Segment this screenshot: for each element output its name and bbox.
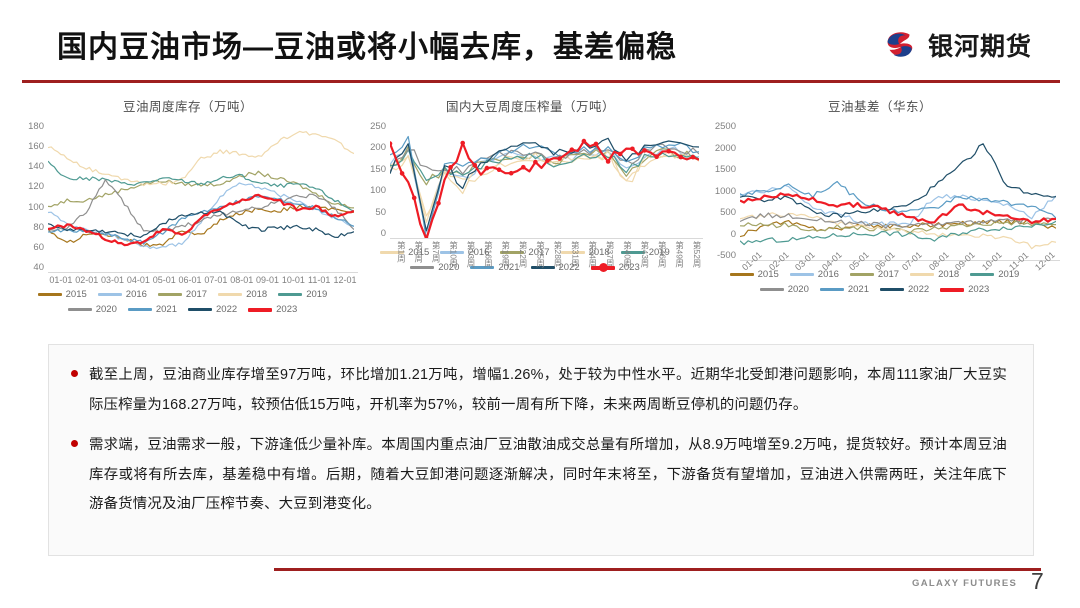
chart-title: 国内大豆周度压榨量（万吨） xyxy=(358,92,703,115)
legend-item-2018[interactable]: 2018 xyxy=(218,289,278,300)
x-tick-label: 第22周 xyxy=(512,241,529,285)
commentary-box: 截至上周，豆油商业库存增至97万吨，环比增加1.21万吨，增幅1.26%，处于较… xyxy=(48,344,1034,556)
x-tick-label: 10-01 xyxy=(280,275,306,285)
chart-lines xyxy=(390,121,699,239)
legend-item-2016[interactable]: 2016 xyxy=(98,289,158,300)
x-tick-label: 01-01 xyxy=(48,275,74,285)
y-axis: 25002000150010005000-500 xyxy=(700,121,736,261)
x-tick-label: 第40周 xyxy=(616,241,633,285)
x-tick-label: 第31周 xyxy=(564,241,581,285)
chart-soybean-oil-inventory: 豆油周度库存（万吨） 180160140120100806040 01-0102… xyxy=(18,92,358,340)
y-tick-label: 500 xyxy=(720,207,736,218)
series-marker-2023 xyxy=(691,155,696,160)
series-marker-2023 xyxy=(630,147,635,152)
galaxy-swirl-icon xyxy=(881,26,919,64)
plot-area xyxy=(390,121,703,239)
series-marker-2023 xyxy=(473,163,478,168)
x-axis-line xyxy=(390,238,703,239)
legend-swatch-icon xyxy=(218,293,242,296)
series-marker-2023 xyxy=(594,142,599,147)
legend-item-2020[interactable]: 2020 xyxy=(68,304,128,315)
x-tick-label: 第28周 xyxy=(547,241,564,285)
series-line-2018 xyxy=(740,213,1056,249)
y-tick-label: 140 xyxy=(28,161,44,172)
x-tick-label: 04-01 xyxy=(125,275,151,285)
x-tick-label: 第25周 xyxy=(529,241,546,285)
plot-area xyxy=(48,121,358,273)
y-tick-label: 180 xyxy=(28,121,44,132)
legend-label: 2017 xyxy=(186,289,207,300)
page-number: 7 xyxy=(1031,568,1044,595)
chart-title: 豆油基差（华东） xyxy=(700,92,1060,115)
brand-logo: 银河期货 xyxy=(881,26,1032,64)
legend-label: 2016 xyxy=(126,289,147,300)
legend-label: 2018 xyxy=(246,289,267,300)
series-marker-2023 xyxy=(533,160,538,165)
x-tick-label: 09-01 xyxy=(255,275,281,285)
page-title: 国内豆油市场—豆油或将小幅去库，基差偏稳 xyxy=(57,22,677,66)
bullet-dot-icon xyxy=(71,440,78,447)
y-tick-label: 100 xyxy=(370,185,386,196)
y-tick-label: 120 xyxy=(28,181,44,192)
footer-divider xyxy=(274,568,1041,571)
y-axis: 250200150100500 xyxy=(358,121,386,239)
legend-swatch-icon xyxy=(158,293,182,296)
legend-label: 2019 xyxy=(306,289,327,300)
series-marker-2023 xyxy=(390,141,392,146)
x-tick-label: 第19周 xyxy=(494,241,511,285)
legend-swatch-icon xyxy=(38,293,62,296)
y-tick-label: 80 xyxy=(33,222,44,233)
series-line-2016 xyxy=(48,183,354,249)
series-marker-2023 xyxy=(606,159,611,164)
series-line-2020 xyxy=(48,180,354,233)
x-tick-label: 第34周 xyxy=(581,241,598,285)
x-axis-line xyxy=(48,272,358,273)
x-tick-label: 第46周 xyxy=(651,241,668,285)
y-tick-label: 150 xyxy=(370,164,386,175)
y-tick-label: 100 xyxy=(28,202,44,213)
series-marker-2023 xyxy=(436,201,441,206)
series-marker-2023 xyxy=(448,165,453,170)
title-divider xyxy=(22,80,1060,83)
chart-lines xyxy=(740,121,1056,261)
legend-item-2022[interactable]: 2022 xyxy=(188,304,248,315)
plot-area xyxy=(740,121,1060,261)
series-line-2015 xyxy=(740,219,1056,236)
legend-swatch-icon xyxy=(128,308,152,311)
x-tick-label: 06-01 xyxy=(177,275,203,285)
x-tick-label: 第7周 xyxy=(425,241,442,285)
x-tick-label: 第43周 xyxy=(633,241,650,285)
y-tick-label: 2500 xyxy=(715,121,736,132)
legend-swatch-icon xyxy=(98,293,122,296)
x-tick-label: 08-01 xyxy=(229,275,255,285)
series-marker-2023 xyxy=(654,154,659,159)
series-marker-2023 xyxy=(497,167,502,172)
series-line-2022 xyxy=(740,144,1056,218)
x-tick-label: 第4周 xyxy=(407,241,424,285)
legend-item-2015[interactable]: 2015 xyxy=(38,289,98,300)
x-tick-label: 第49周 xyxy=(668,241,685,285)
x-tick-label: 02-01 xyxy=(74,275,100,285)
legend-swatch-icon xyxy=(248,308,272,312)
series-marker-2023 xyxy=(618,152,623,157)
x-tick-label: 第10周 xyxy=(442,241,459,285)
chart-soybean-oil-basis: 豆油基差（华东） 25002000150010005000-500 01-010… xyxy=(700,92,1060,340)
legend-swatch-icon xyxy=(278,293,302,296)
y-tick-label: 250 xyxy=(370,121,386,132)
brand-name: 银河期货 xyxy=(928,27,1032,63)
x-tick-label: 第1周 xyxy=(390,241,407,285)
y-tick-label: 1000 xyxy=(715,186,736,197)
bullet-text: 截至上周，豆油商业库存增至97万吨，环比增加1.21万吨，增幅1.26%，处于较… xyxy=(89,361,1007,420)
x-tick-label: 05-01 xyxy=(151,275,177,285)
series-marker-2023 xyxy=(666,149,671,154)
series-line-2021 xyxy=(48,196,354,244)
bullet-item: 截至上周，豆油商业库存增至97万吨，环比增加1.21万吨，增幅1.26%，处于较… xyxy=(71,361,1007,420)
x-tick-label: 第16周 xyxy=(477,241,494,285)
x-tick-label: 11-01 xyxy=(306,275,332,285)
y-tick-label: 2000 xyxy=(715,143,736,154)
legend-swatch-icon xyxy=(188,308,212,311)
legend-swatch-icon xyxy=(591,266,615,270)
y-tick-label: 60 xyxy=(33,242,44,253)
charts-row: 豆油周度库存（万吨） 180160140120100806040 01-0102… xyxy=(0,92,1080,342)
y-tick-label: 0 xyxy=(381,228,386,239)
y-tick-label: 200 xyxy=(370,142,386,153)
chart-title: 豆油周度库存（万吨） xyxy=(18,92,358,115)
x-tick-label: 03-01 xyxy=(100,275,126,285)
series-line-2023 xyxy=(48,195,354,245)
series-marker-2023 xyxy=(679,155,684,160)
series-marker-2023 xyxy=(545,158,550,163)
series-marker-2023 xyxy=(400,171,405,176)
legend-item-2017[interactable]: 2017 xyxy=(158,289,218,300)
legend-label: 2023 xyxy=(276,304,297,315)
series-marker-2023 xyxy=(412,196,417,201)
series-line-2021 xyxy=(390,137,699,240)
x-tick-label: 07-01 xyxy=(203,275,229,285)
series-marker-2023 xyxy=(460,141,465,146)
series-line-2017 xyxy=(48,171,354,208)
series-marker-2023 xyxy=(642,148,647,153)
bullet-text: 需求端，豆油需求一般，下游逢低少量补库。本周国内重点油厂豆油散油成交总量有所增加… xyxy=(89,431,1007,520)
footer-brand: GALAXY FUTURES xyxy=(912,578,1017,589)
series-marker-2023 xyxy=(521,165,526,170)
bullet-item: 需求端，豆油需求一般，下游逢低少量补库。本周国内重点油厂豆油散油成交总量有所增加… xyxy=(71,431,1007,520)
series-marker-2023 xyxy=(582,139,587,144)
y-axis: 180160140120100806040 xyxy=(18,121,44,273)
y-tick-label: 40 xyxy=(33,262,44,273)
series-marker-2023 xyxy=(509,171,514,176)
legend-item-2021[interactable]: 2021 xyxy=(128,304,188,315)
legend-label: 2020 xyxy=(96,304,117,315)
series-line-2023 xyxy=(740,193,1056,223)
legend-label: 2021 xyxy=(156,304,177,315)
legend-item-2023[interactable]: 2023 xyxy=(248,304,308,315)
y-tick-label: 160 xyxy=(28,141,44,152)
slide-header: 国内豆油市场—豆油或将小幅去库，基差偏稳 银河期货 xyxy=(0,0,1080,88)
legend-swatch-icon xyxy=(68,308,92,311)
chart-lines xyxy=(48,121,354,273)
bullet-dot-icon xyxy=(71,370,78,377)
series-marker-2023 xyxy=(485,166,490,171)
series-marker-2023 xyxy=(570,147,575,152)
y-tick-label: 50 xyxy=(375,207,386,218)
legend-label: 2015 xyxy=(66,289,87,300)
x-tick-label: 12-01 xyxy=(332,275,358,285)
chart-soybean-crush-volume: 国内大豆周度压榨量（万吨） 250200150100500 第1周第4周第7周第… xyxy=(358,92,703,340)
legend-label: 2022 xyxy=(216,304,237,315)
y-tick-label: 0 xyxy=(731,229,736,240)
series-marker-2023 xyxy=(557,156,562,161)
chart-legend: 201520162017201820192020202120222023 xyxy=(18,289,358,315)
series-line-2022 xyxy=(390,138,699,230)
legend-item-2019[interactable]: 2019 xyxy=(278,289,338,300)
y-tick-label: -500 xyxy=(717,250,736,261)
y-tick-label: 1500 xyxy=(715,164,736,175)
x-tick-label: 第13周 xyxy=(460,241,477,285)
